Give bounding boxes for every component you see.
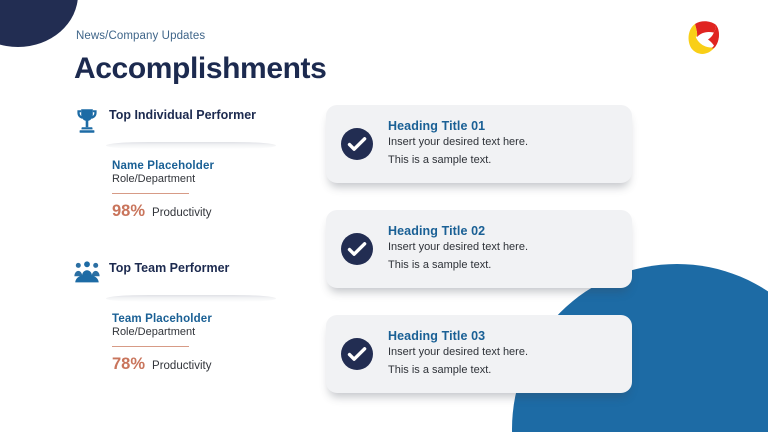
eyebrow-label: News/Company Updates <box>76 30 205 42</box>
card-title: Heading Title 02 <box>388 224 528 238</box>
brand-logo-icon <box>684 18 724 60</box>
metric-details: Name Placeholder Role/Department 98% Pro… <box>112 160 289 221</box>
card-line-1: Insert your desired text here. <box>388 345 528 360</box>
metric-role: Role/Department <box>112 326 289 338</box>
card-text-group: Heading Title 02 Insert your desired tex… <box>388 224 528 273</box>
soft-divider <box>106 142 276 149</box>
metric-name: Team Placeholder <box>112 313 289 325</box>
metric-role: Role/Department <box>112 173 289 185</box>
metric-heading-row: Top Individual Performer <box>74 106 289 135</box>
metric-percent: 98% <box>112 202 145 221</box>
metric-percent-label: Productivity <box>152 360 211 372</box>
metric-stat-row: 98% Productivity <box>112 202 289 221</box>
card-line-1: Insert your desired text here. <box>388 135 528 150</box>
metric-block-top-team: Top Team Performer Team Placeholder Role… <box>74 259 289 374</box>
card-line-2: This is a sample text. <box>388 363 528 378</box>
metric-title: Top Individual Performer <box>109 106 256 124</box>
metric-percent-label: Productivity <box>152 207 211 219</box>
accent-rule <box>112 193 189 194</box>
content-card[interactable]: Heading Title 01 Insert your desired tex… <box>326 105 632 183</box>
card-line-2: This is a sample text. <box>388 258 528 273</box>
metric-heading-row: Top Team Performer <box>74 259 289 288</box>
soft-divider <box>106 295 276 302</box>
slide-canvas: News/Company Updates Accomplishments Top… <box>0 0 768 432</box>
check-circle-icon <box>340 337 374 371</box>
page-title: Accomplishments <box>74 52 326 86</box>
card-title: Heading Title 01 <box>388 119 528 133</box>
accent-rule <box>112 346 189 347</box>
content-card[interactable]: Heading Title 02 Insert your desired tex… <box>326 210 632 288</box>
trophy-icon <box>74 107 100 135</box>
card-text-group: Heading Title 03 Insert your desired tex… <box>388 329 528 378</box>
metric-block-top-individual: Top Individual Performer Name Placeholde… <box>74 106 289 221</box>
check-circle-icon <box>340 127 374 161</box>
decorative-navy-circle <box>0 0 78 47</box>
card-title: Heading Title 03 <box>388 329 528 343</box>
metric-title: Top Team Performer <box>109 259 229 277</box>
check-circle-icon <box>340 232 374 266</box>
card-line-2: This is a sample text. <box>388 153 528 168</box>
card-line-1: Insert your desired text here. <box>388 240 528 255</box>
metric-percent: 78% <box>112 355 145 374</box>
metric-stat-row: 78% Productivity <box>112 355 289 374</box>
metric-name: Name Placeholder <box>112 160 289 172</box>
content-card[interactable]: Heading Title 03 Insert your desired tex… <box>326 315 632 393</box>
card-text-group: Heading Title 01 Insert your desired tex… <box>388 119 528 168</box>
metric-details: Team Placeholder Role/Department 78% Pro… <box>112 313 289 374</box>
team-group-icon <box>74 260 100 288</box>
